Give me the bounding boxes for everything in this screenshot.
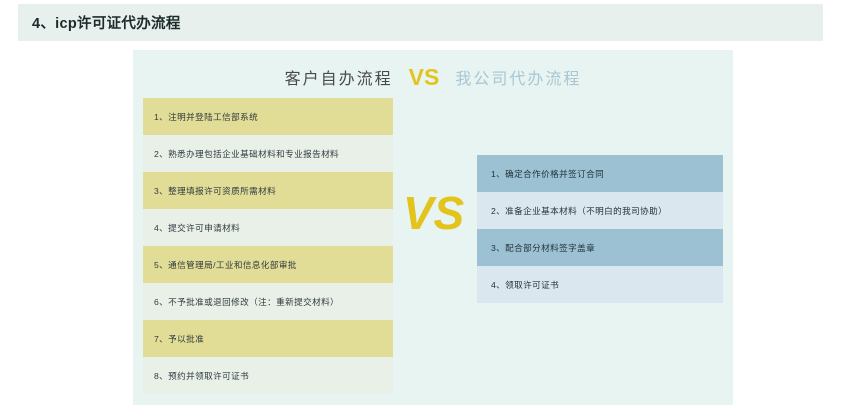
- right-flow-step: 1、确定合作价格并签订合同: [477, 155, 723, 192]
- heading-vs-label: VS: [409, 64, 440, 91]
- right-flow-step: 3、配合部分材料签字盖章: [477, 229, 723, 266]
- left-flow-step: 2、熟悉办理包括企业基础材料和专业报告材料: [143, 135, 393, 172]
- left-flow-step: 7、予以批准: [143, 320, 393, 357]
- left-flow-step-text: 6、不予批准或退回修改（注：重新提交材料）: [154, 296, 339, 308]
- heading-left-label: 客户自办流程: [285, 65, 393, 89]
- center-vs-label: VS: [391, 190, 476, 236]
- left-flow-step: 4、提交许可申请材料: [143, 209, 393, 246]
- left-flow-list: 1、注明并登陆工信部系统 2、熟悉办理包括企业基础材料和专业报告材料 3、整理填…: [143, 98, 393, 394]
- right-flow-step: 4、领取许可证书: [477, 266, 723, 303]
- left-flow-step-text: 5、通信管理局/工业和信息化部审批: [154, 259, 297, 271]
- heading-right-label: 我公司代办流程: [455, 65, 581, 89]
- left-flow-step-text: 3、整理填报许可资质所需材料: [154, 185, 276, 197]
- page-title: 4、icp许可证代办流程: [18, 12, 181, 33]
- right-flow-list: 1、确定合作价格并签订合同 2、准备企业基本材料（不明白的我司协助） 3、配合部…: [477, 155, 723, 303]
- left-flow-step-text: 7、予以批准: [154, 333, 204, 345]
- left-flow-step-text: 4、提交许可申请材料: [154, 222, 240, 234]
- right-flow-step-text: 1、确定合作价格并签订合同: [491, 168, 604, 180]
- right-flow-step-text: 4、领取许可证书: [491, 279, 559, 291]
- left-flow-step: 8、预约并领取许可证书: [143, 357, 393, 394]
- section-header-bar: 4、icp许可证代办流程: [18, 4, 823, 41]
- left-flow-step-text: 8、预约并领取许可证书: [154, 370, 249, 382]
- left-flow-step: 3、整理填报许可资质所需材料: [143, 172, 393, 209]
- right-flow-step-text: 2、准备企业基本材料（不明白的我司协助）: [491, 205, 667, 217]
- left-flow-step-text: 2、熟悉办理包括企业基础材料和专业报告材料: [154, 148, 339, 160]
- right-flow-step: 2、准备企业基本材料（不明白的我司协助）: [477, 192, 723, 229]
- left-flow-step: 1、注明并登陆工信部系统: [143, 98, 393, 135]
- left-flow-step: 5、通信管理局/工业和信息化部审批: [143, 246, 393, 283]
- diagram-heading-row: 客户自办流程 VS 我公司代办流程: [133, 60, 733, 94]
- left-flow-step: 6、不予批准或退回修改（注：重新提交材料）: [143, 283, 393, 320]
- left-flow-step-text: 1、注明并登陆工信部系统: [154, 111, 258, 123]
- comparison-diagram-panel: 客户自办流程 VS 我公司代办流程 1、注明并登陆工信部系统 2、熟悉办理包括企…: [133, 50, 733, 405]
- right-flow-step-text: 3、配合部分材料签字盖章: [491, 242, 595, 254]
